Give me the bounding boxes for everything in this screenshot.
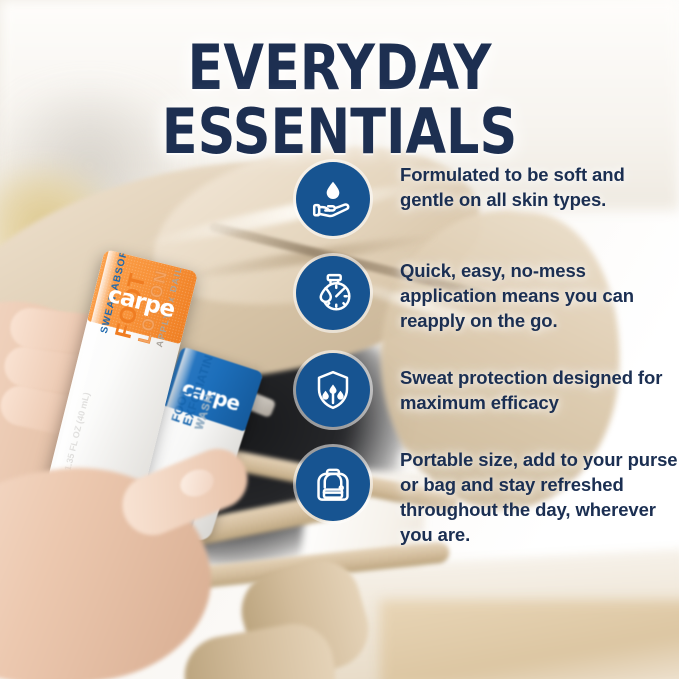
feature-item-sweat-protection: Sweat protection designed for maximum ef… bbox=[296, 353, 679, 427]
feature-list: Formulated to be soft and gentle on all … bbox=[296, 160, 679, 567]
wood-surface bbox=[380, 600, 679, 679]
shield-droplets-icon bbox=[296, 353, 370, 427]
feature-text: Portable size, add to your purse or bag … bbox=[370, 447, 679, 547]
hand-with-droplet-icon bbox=[296, 162, 370, 236]
feature-text: Formulated to be soft and gentle on all … bbox=[370, 162, 679, 212]
marketing-image: carpe FOOT EXFOLIATING WASH carpe SWEAT … bbox=[0, 0, 679, 679]
feature-item-portable: Portable size, add to your purse or bag … bbox=[296, 447, 679, 547]
feature-text: Quick, easy, no-mess application means y… bbox=[370, 256, 679, 333]
feature-item-formulated: Formulated to be soft and gentle on all … bbox=[296, 162, 679, 236]
stopwatch-droplet-icon bbox=[296, 256, 370, 330]
backpack-icon bbox=[296, 447, 370, 521]
feature-item-quick-easy: Quick, easy, no-mess application means y… bbox=[296, 256, 679, 333]
page-title: EVERYDAY ESSENTIALS bbox=[20, 36, 658, 164]
feature-text: Sweat protection designed for maximum ef… bbox=[370, 353, 679, 415]
